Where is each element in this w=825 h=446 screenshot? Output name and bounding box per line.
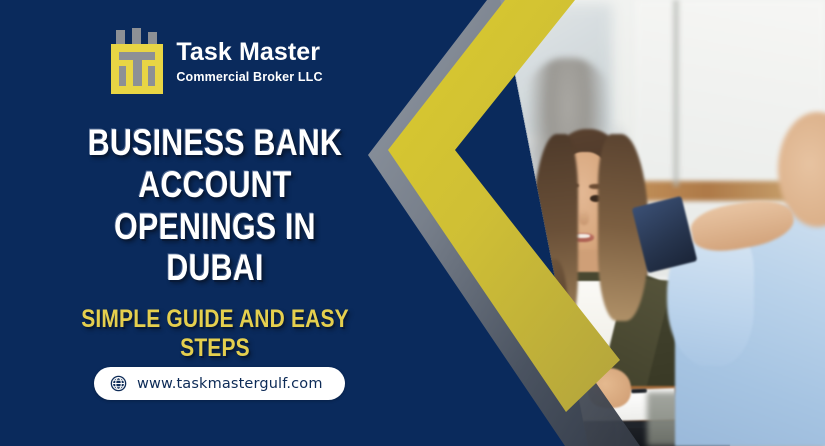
task-master-logo-mark — [107, 28, 167, 96]
website-url-text: www.taskmastergulf.com — [137, 376, 323, 392]
adviser-nose — [579, 210, 589, 226]
brand-name: Task Master — [176, 40, 322, 65]
website-url-pill[interactable]: www.taskmastergulf.com — [94, 367, 345, 400]
background-wall-seam — [671, 0, 681, 187]
hero-photo — [430, 0, 825, 446]
cubicle-panel-left — [430, 219, 501, 335]
cubicle-panel-divider — [453, 196, 534, 365]
background-colleague-left — [430, 71, 505, 240]
adviser-hair-strand — [537, 259, 569, 393]
subhead-title: SIMPLE GUIDE AND EASY STEPS — [55, 305, 374, 363]
chair-leg — [616, 424, 621, 446]
adviser-hand — [588, 368, 631, 408]
headline-title: BUSINESS BANK ACCOUNT OPENINGS IN DUBAI — [67, 122, 362, 289]
background-colleague-left-shirt — [446, 169, 482, 240]
brand-subtitle: Commercial Broker LLC — [176, 71, 322, 84]
brand-lockup[interactable]: Task Master Commercial Broker LLC — [107, 28, 322, 96]
promo-banner: Task Master Commercial Broker LLC BUSINE… — [0, 0, 825, 446]
office-scene-image — [430, 0, 825, 446]
keyboard — [481, 376, 584, 397]
globe-icon — [110, 375, 127, 392]
